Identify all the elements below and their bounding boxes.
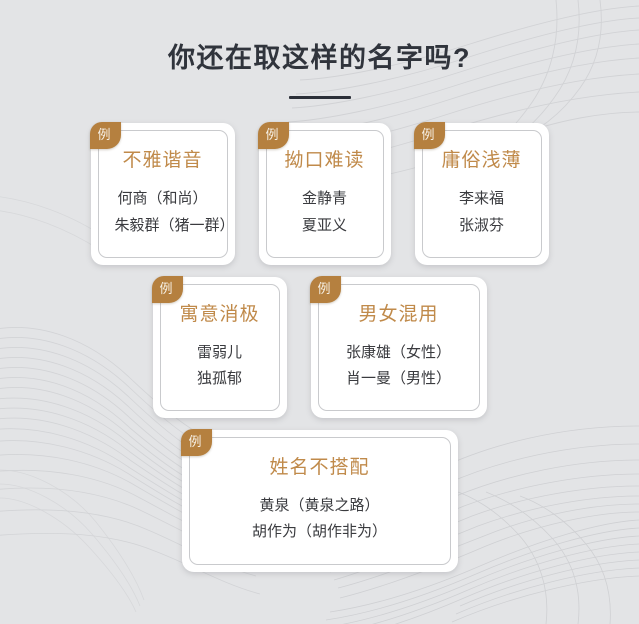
card-row-3: 例 姓名不搭配 黄泉（黄泉之路） 胡作为（胡作非为） [0, 430, 639, 571]
example-badge: 例 [310, 276, 341, 303]
example-card-vulgar-shallow[interactable]: 例 庸俗浅薄 李来福 张淑芬 [415, 123, 549, 264]
card-title: 姓名不搭配 [206, 458, 434, 479]
card-inner: 拗口难读 金静青 夏亚义 [266, 130, 384, 257]
page-header: 你还在取这样的名字吗? [0, 0, 639, 99]
example-card-negative-meaning[interactable]: 例 寓意消极 雷弱儿 独孤郁 [153, 277, 287, 418]
cards-area: 例 不雅谐音 何商（和尚） 朱毅群（猪一群） 例 拗口难读 金静青 夏亚义 例 [0, 99, 639, 571]
card-item: 张康雄（女性） [335, 340, 463, 366]
card-item: 黄泉（黄泉之路） [206, 493, 434, 519]
card-item: 朱毅群（猪一群） [115, 213, 211, 239]
card-row-1: 例 不雅谐音 何商（和尚） 朱毅群（猪一群） 例 拗口难读 金静青 夏亚义 例 [0, 123, 639, 264]
example-badge: 例 [414, 122, 445, 149]
example-badge-label: 例 [97, 128, 110, 141]
card-item: 雷弱儿 [177, 340, 263, 366]
card-item: 张淑芬 [439, 213, 525, 239]
page-title: 你还在取这样的名字吗? [0, 42, 639, 74]
example-card-gender-mixup[interactable]: 例 男女混用 张康雄（女性） 肖一曼（男性） [311, 277, 487, 418]
card-title: 拗口难读 [283, 151, 367, 172]
card-item: 何商（和尚） [115, 186, 211, 212]
card-inner: 男女混用 张康雄（女性） 肖一曼（男性） [318, 284, 480, 411]
example-badge-label: 例 [265, 128, 278, 141]
card-item: 李来福 [439, 186, 525, 212]
card-title: 不雅谐音 [115, 151, 211, 172]
example-badge: 例 [181, 429, 212, 456]
card-item: 独孤郁 [177, 366, 263, 392]
card-item: 金静青 [283, 186, 367, 212]
example-badge: 例 [258, 122, 289, 149]
card-title: 男女混用 [335, 305, 463, 326]
example-badge: 例 [152, 276, 183, 303]
example-card-hard-to-pronounce[interactable]: 例 拗口难读 金静青 夏亚义 [259, 123, 391, 264]
example-badge-label: 例 [159, 282, 172, 295]
example-card-improper-homophone[interactable]: 例 不雅谐音 何商（和尚） 朱毅群（猪一群） [91, 123, 235, 264]
card-inner: 庸俗浅薄 李来福 张淑芬 [422, 130, 542, 257]
card-item: 胡作为（胡作非为） [206, 519, 434, 545]
card-row-2: 例 寓意消极 雷弱儿 独孤郁 例 男女混用 张康雄（女性） 肖一曼（男性） [0, 277, 639, 418]
card-inner: 寓意消极 雷弱儿 独孤郁 [160, 284, 280, 411]
example-badge-label: 例 [317, 282, 330, 295]
example-card-name-mismatch[interactable]: 例 姓名不搭配 黄泉（黄泉之路） 胡作为（胡作非为） [182, 430, 458, 571]
card-title: 寓意消极 [177, 305, 263, 326]
example-badge-label: 例 [421, 128, 434, 141]
card-inner: 姓名不搭配 黄泉（黄泉之路） 胡作为（胡作非为） [189, 437, 451, 564]
card-inner: 不雅谐音 何商（和尚） 朱毅群（猪一群） [98, 130, 228, 257]
card-item: 肖一曼（男性） [335, 366, 463, 392]
example-badge-label: 例 [188, 435, 201, 448]
card-item: 夏亚义 [283, 213, 367, 239]
example-badge: 例 [90, 122, 121, 149]
card-title: 庸俗浅薄 [439, 151, 525, 172]
